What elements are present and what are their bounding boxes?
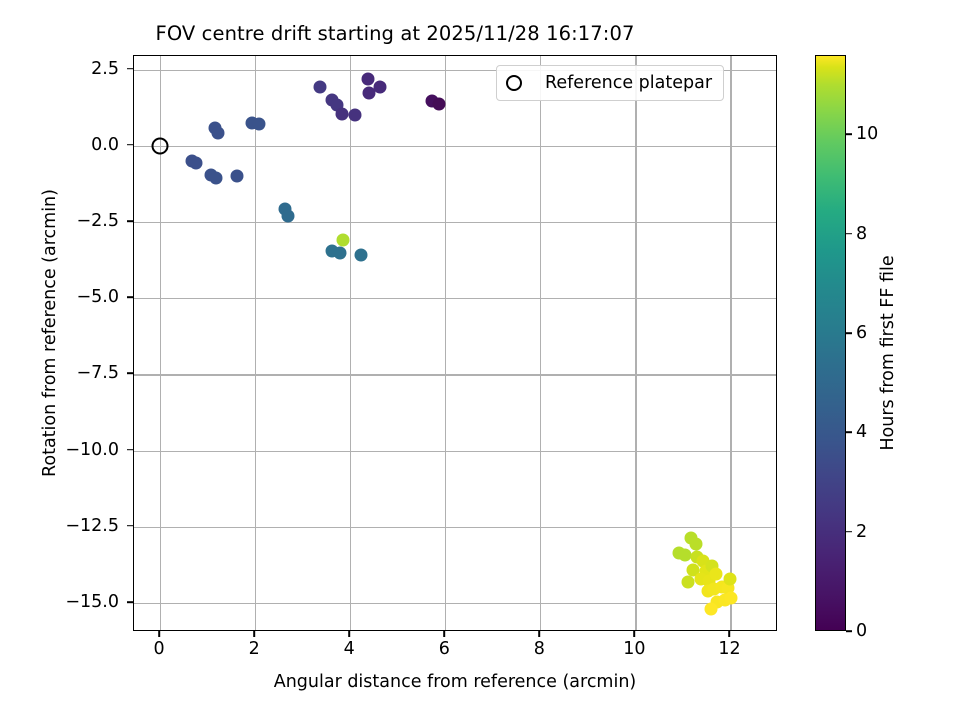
legend-open-circle-icon	[506, 75, 522, 91]
y-tick	[127, 220, 133, 222]
colorbar-tick	[846, 432, 852, 434]
x-tick	[158, 631, 160, 637]
x-tick-label: 0	[154, 639, 165, 659]
x-tick	[729, 631, 731, 637]
plot-area	[133, 55, 777, 631]
colorbar-tick-label: 2	[856, 522, 867, 542]
colorbar-tick-label: 4	[856, 422, 867, 442]
colorbar-tick	[846, 134, 852, 136]
x-tick	[539, 631, 541, 637]
x-tick-label: 6	[439, 639, 450, 659]
colorbar-tick	[846, 332, 852, 334]
x-tick-label: 12	[718, 639, 740, 659]
y-tick-label: −2.5	[77, 211, 120, 231]
colorbar-tick	[846, 531, 852, 533]
colorbar-tick	[846, 630, 852, 632]
x-tick-label: 10	[623, 639, 645, 659]
reference-marker-layer	[134, 56, 776, 630]
colorbar-tick-label: 0	[856, 621, 867, 641]
reference-platepar-marker	[152, 137, 169, 154]
y-tick	[127, 296, 133, 298]
x-tick-label: 8	[534, 639, 545, 659]
x-tick-label: 2	[249, 639, 260, 659]
colorbar-tick-label: 10	[856, 124, 878, 144]
x-tick-label: 4	[344, 639, 355, 659]
y-tick	[127, 525, 133, 527]
y-tick-label: −5.0	[77, 287, 120, 307]
y-tick	[127, 601, 133, 603]
y-tick	[127, 144, 133, 146]
y-tick	[127, 68, 133, 70]
colorbar-tick-label: 8	[856, 224, 867, 244]
colorbar-tick	[846, 233, 852, 235]
x-tick	[634, 631, 636, 637]
y-tick-label: −7.5	[77, 363, 120, 383]
y-tick-label: 0.0	[91, 135, 119, 155]
figure-canvas: FOV centre drift starting at 2025/11/28 …	[0, 0, 960, 720]
colorbar: 0246810	[815, 55, 846, 631]
legend: Reference platepar	[496, 65, 724, 101]
y-tick-label: −12.5	[65, 516, 119, 536]
y-tick	[127, 449, 133, 451]
x-tick	[348, 631, 350, 637]
y-tick-label: −10.0	[65, 440, 119, 460]
y-axis-label: Rotation from reference (arcmin)	[40, 45, 60, 621]
y-tick-label: −15.0	[65, 592, 119, 612]
x-axis-label: Angular distance from reference (arcmin)	[133, 672, 777, 692]
legend-entry-label: Reference platepar	[545, 73, 712, 93]
colorbar-label: Hours from first FF file	[878, 65, 898, 641]
colorbar-tick-label: 6	[856, 323, 867, 343]
colorbar-gradient	[815, 55, 846, 631]
chart-title: FOV centre drift starting at 2025/11/28 …	[0, 22, 790, 45]
x-tick	[444, 631, 446, 637]
y-tick-label: 2.5	[91, 59, 119, 79]
y-tick	[127, 373, 133, 375]
x-tick	[253, 631, 255, 637]
